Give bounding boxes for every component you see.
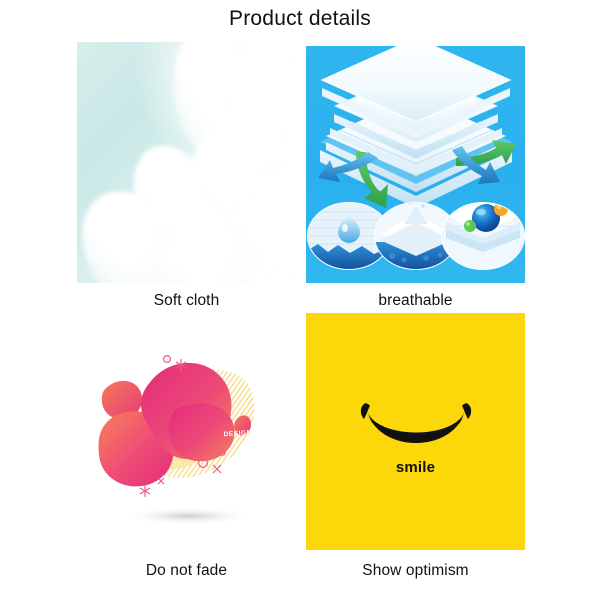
breathable-image[interactable] xyxy=(306,46,525,283)
blob-main-lobe xyxy=(168,403,234,461)
tile-do-not-fade[interactable]: STYLE DESIGN ELEMENT Do not fade xyxy=(77,313,296,580)
tile-show-optimism[interactable]: smile Show optimism xyxy=(306,313,525,580)
smile-graphic xyxy=(306,313,525,550)
soft-cloth-image[interactable] xyxy=(77,42,296,283)
show-optimism-image[interactable]: smile xyxy=(306,313,525,550)
abstract-blob-graphic xyxy=(77,313,296,550)
breathable-diagram xyxy=(306,46,525,283)
3d-globe-inset xyxy=(442,200,524,269)
fabric-layer-stack xyxy=(320,46,512,208)
tile-caption-breathable: breathable xyxy=(306,292,525,310)
page-title: Product details xyxy=(0,7,600,31)
blob-shadow xyxy=(121,507,257,525)
tile-caption-do-not-fade: Do not fade xyxy=(77,562,296,580)
product-details-grid: Soft cloth xyxy=(0,42,600,592)
smile-word: smile xyxy=(306,459,525,476)
tile-soft-cloth[interactable]: Soft cloth xyxy=(77,42,296,310)
tile-caption-show-optimism: Show optimism xyxy=(306,562,525,580)
tile-breathable[interactable]: breathable xyxy=(306,46,525,310)
smile-tip-left xyxy=(361,403,370,419)
do-not-fade-image[interactable]: STYLE DESIGN ELEMENT xyxy=(77,313,296,550)
tile-caption-soft-cloth: Soft cloth xyxy=(77,292,296,310)
smile-tip-right xyxy=(462,403,471,419)
